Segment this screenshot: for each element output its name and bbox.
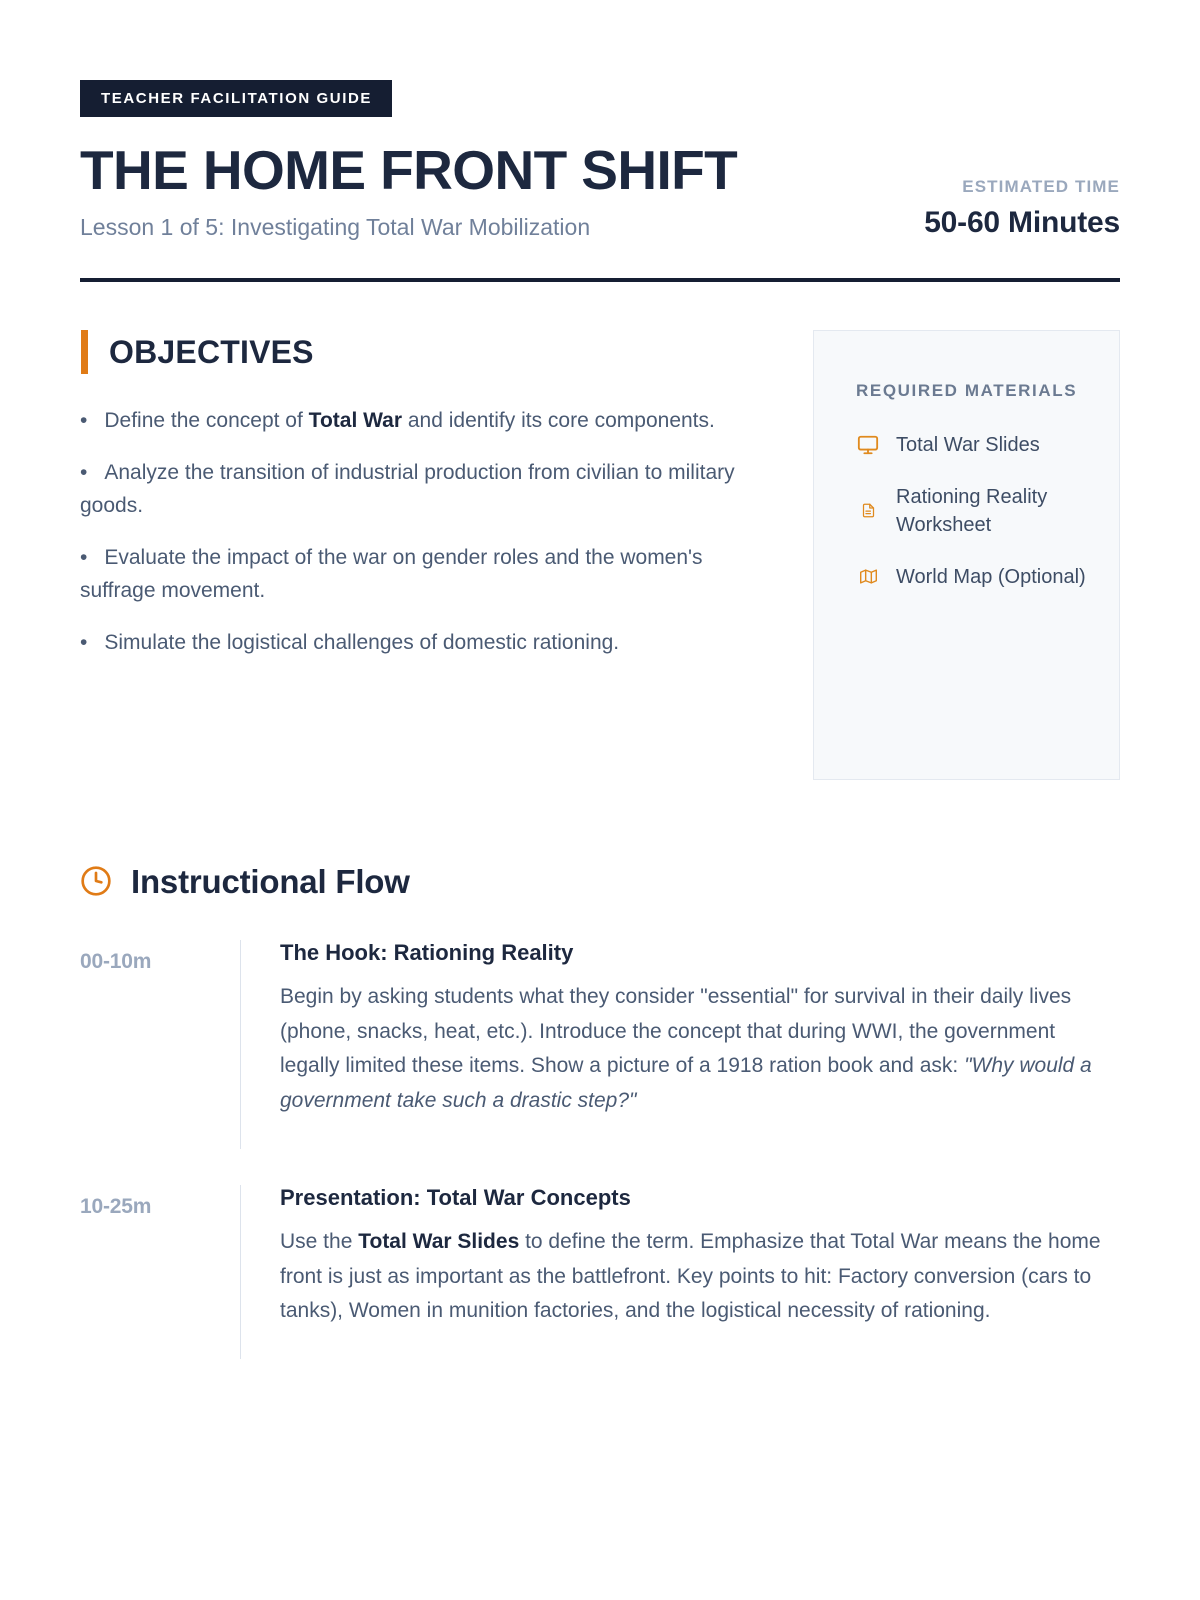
required-materials-title: REQUIRED MATERIALS — [856, 378, 1089, 404]
estimated-time-value: 50-60 Minutes — [924, 208, 1120, 238]
objective-text-post: and identify its core components. — [402, 409, 715, 432]
estimated-time-label: ESTIMATED TIME — [924, 178, 1120, 195]
material-label: Total War Slides — [896, 431, 1040, 459]
accent-bar — [81, 330, 88, 374]
title-block: THE HOME FRONT SHIFT Lesson 1 of 5: Inve… — [80, 143, 737, 242]
timeline-block-text: Use the Total War Slides to define the t… — [280, 1225, 1120, 1329]
timeline-body: The Hook: Rationing Reality Begin by ask… — [280, 940, 1120, 1149]
bullet-icon: • — [80, 409, 87, 432]
objective-item: •Define the concept of Total War and ide… — [80, 405, 760, 438]
clock-icon — [80, 865, 112, 897]
objective-item: •Analyze the transition of industrial pr… — [80, 457, 760, 522]
objectives-section: OBJECTIVES •Define the concept of Total … — [80, 330, 780, 660]
objective-text-pre: Simulate the logistical challenges of do… — [104, 631, 619, 654]
required-materials-section: REQUIRED MATERIALS Total War Slides — [813, 330, 1120, 780]
header-divider — [80, 278, 1120, 282]
main-content: OBJECTIVES •Define the concept of Total … — [80, 330, 1120, 780]
instructional-flow-heading: Instructional Flow — [80, 865, 1120, 898]
page-title: THE HOME FRONT SHIFT — [80, 143, 737, 198]
timeline-vertical-rule — [240, 1185, 241, 1359]
title-row: THE HOME FRONT SHIFT Lesson 1 of 5: Inve… — [80, 143, 1120, 242]
objectives-title: OBJECTIVES — [109, 336, 314, 368]
timeline-block-text: Begin by asking students what they consi… — [280, 980, 1120, 1119]
timeline-block: 00-10m The Hook: Rationing Reality Begin… — [80, 940, 1120, 1149]
objectives-heading: OBJECTIVES — [80, 330, 780, 374]
document-header: TEACHER FACILITATION GUIDE THE HOME FRON… — [80, 80, 1120, 282]
objective-item: •Evaluate the impact of the war on gende… — [80, 542, 760, 607]
timeline-block-title: The Hook: Rationing Reality — [280, 940, 1120, 966]
timeline-time-label: 10-25m — [80, 1185, 240, 1359]
timeline-block-title: Presentation: Total War Concepts — [280, 1185, 1120, 1211]
material-label: World Map (Optional) — [896, 563, 1086, 591]
objective-item: •Simulate the logistical challenges of d… — [80, 627, 760, 660]
instructional-flow-section: Instructional Flow 00-10m The Hook: Rati… — [80, 865, 1120, 1359]
material-item: Total War Slides — [856, 431, 1089, 459]
objective-text-pre: Define the concept of — [104, 409, 308, 432]
bullet-icon: • — [80, 461, 87, 484]
material-label: Rationing Reality Worksheet — [896, 483, 1089, 539]
objective-text-bold: Total War — [309, 409, 402, 432]
lesson-plan-page: TEACHER FACILITATION GUIDE THE HOME FRON… — [0, 0, 1200, 1600]
material-item: Rationing Reality Worksheet — [856, 483, 1089, 539]
estimated-time-block: ESTIMATED TIME 50-60 Minutes — [924, 178, 1120, 242]
text-segment-bold: Total War Slides — [358, 1230, 519, 1253]
timeline-block: 10-25m Presentation: Total War Concepts … — [80, 1185, 1120, 1359]
objective-text-pre: Analyze the transition of industrial pro… — [80, 461, 735, 517]
objective-text-pre: Evaluate the impact of the war on gender… — [80, 546, 703, 602]
text-segment-plain: Use the — [280, 1230, 358, 1253]
document-type-badge: TEACHER FACILITATION GUIDE — [80, 80, 392, 117]
objectives-list: •Define the concept of Total War and ide… — [80, 405, 780, 660]
timeline-vertical-rule — [240, 940, 241, 1149]
bullet-icon: • — [80, 631, 87, 654]
bullet-icon: • — [80, 546, 87, 569]
material-item: World Map (Optional) — [856, 563, 1089, 591]
timeline: 00-10m The Hook: Rationing Reality Begin… — [80, 940, 1120, 1359]
page-subtitle: Lesson 1 of 5: Investigating Total War M… — [80, 214, 737, 242]
required-materials-card: REQUIRED MATERIALS Total War Slides — [813, 330, 1120, 780]
monitor-icon — [856, 433, 880, 457]
text-segment-plain: Begin by asking students what they consi… — [280, 985, 1071, 1077]
instructional-flow-title: Instructional Flow — [131, 865, 410, 898]
timeline-body: Presentation: Total War Concepts Use the… — [280, 1185, 1120, 1359]
map-icon — [856, 565, 880, 589]
timeline-time-label: 00-10m — [80, 940, 240, 1149]
document-icon — [856, 499, 880, 523]
